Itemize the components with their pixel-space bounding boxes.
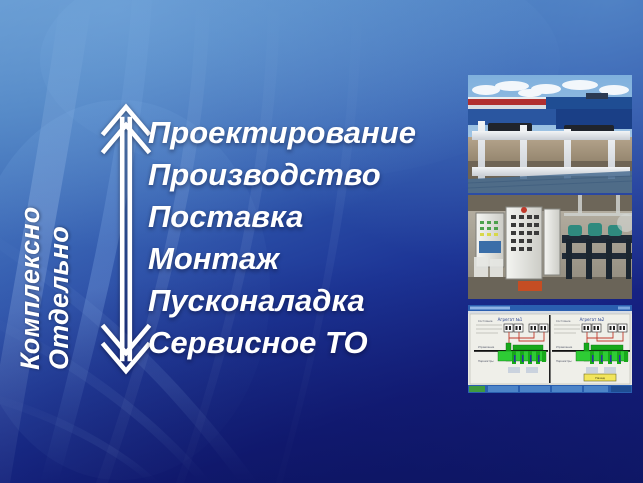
service-item: Проектирование xyxy=(148,112,458,154)
photo-outdoor-equipment xyxy=(468,75,632,193)
svg-text:Состояние: Состояние xyxy=(556,319,571,323)
scope-label-separate: Отдельно xyxy=(44,226,75,370)
service-item: Монтаж xyxy=(148,238,458,280)
service-item: Производство xyxy=(148,154,458,196)
photo-scada-screen: Агрегат №1 Состояние Управление Параметр… xyxy=(468,305,632,393)
svg-text:Управление: Управление xyxy=(478,345,495,349)
svg-text:Состояние: Состояние xyxy=(478,319,493,323)
svg-text:Управление: Управление xyxy=(556,345,573,349)
service-item: Сервисное ТО xyxy=(148,322,458,364)
photo-control-panels xyxy=(468,195,632,299)
presentation-slide: Комплексно Отдельно Проектирование Произ… xyxy=(0,0,643,483)
svg-text:Агрегат №1: Агрегат №1 xyxy=(498,317,523,322)
photo-stack: Агрегат №1 Состояние Управление Параметр… xyxy=(468,75,632,393)
svg-text:Параметры: Параметры xyxy=(478,359,494,363)
services-list: Проектирование Производство Поставка Мон… xyxy=(148,112,458,364)
svg-text:Назад: Назад xyxy=(595,376,605,380)
svg-text:Агрегат №2: Агрегат №2 xyxy=(580,317,605,322)
svg-text:Параметры: Параметры xyxy=(556,359,572,363)
double-headed-arrow-icon xyxy=(98,103,154,375)
scope-label-complex: Комплексно xyxy=(15,207,46,371)
scope-labels: Комплексно Отдельно xyxy=(18,108,104,370)
service-item: Поставка xyxy=(148,196,458,238)
service-item: Пусконаладка xyxy=(148,280,458,322)
